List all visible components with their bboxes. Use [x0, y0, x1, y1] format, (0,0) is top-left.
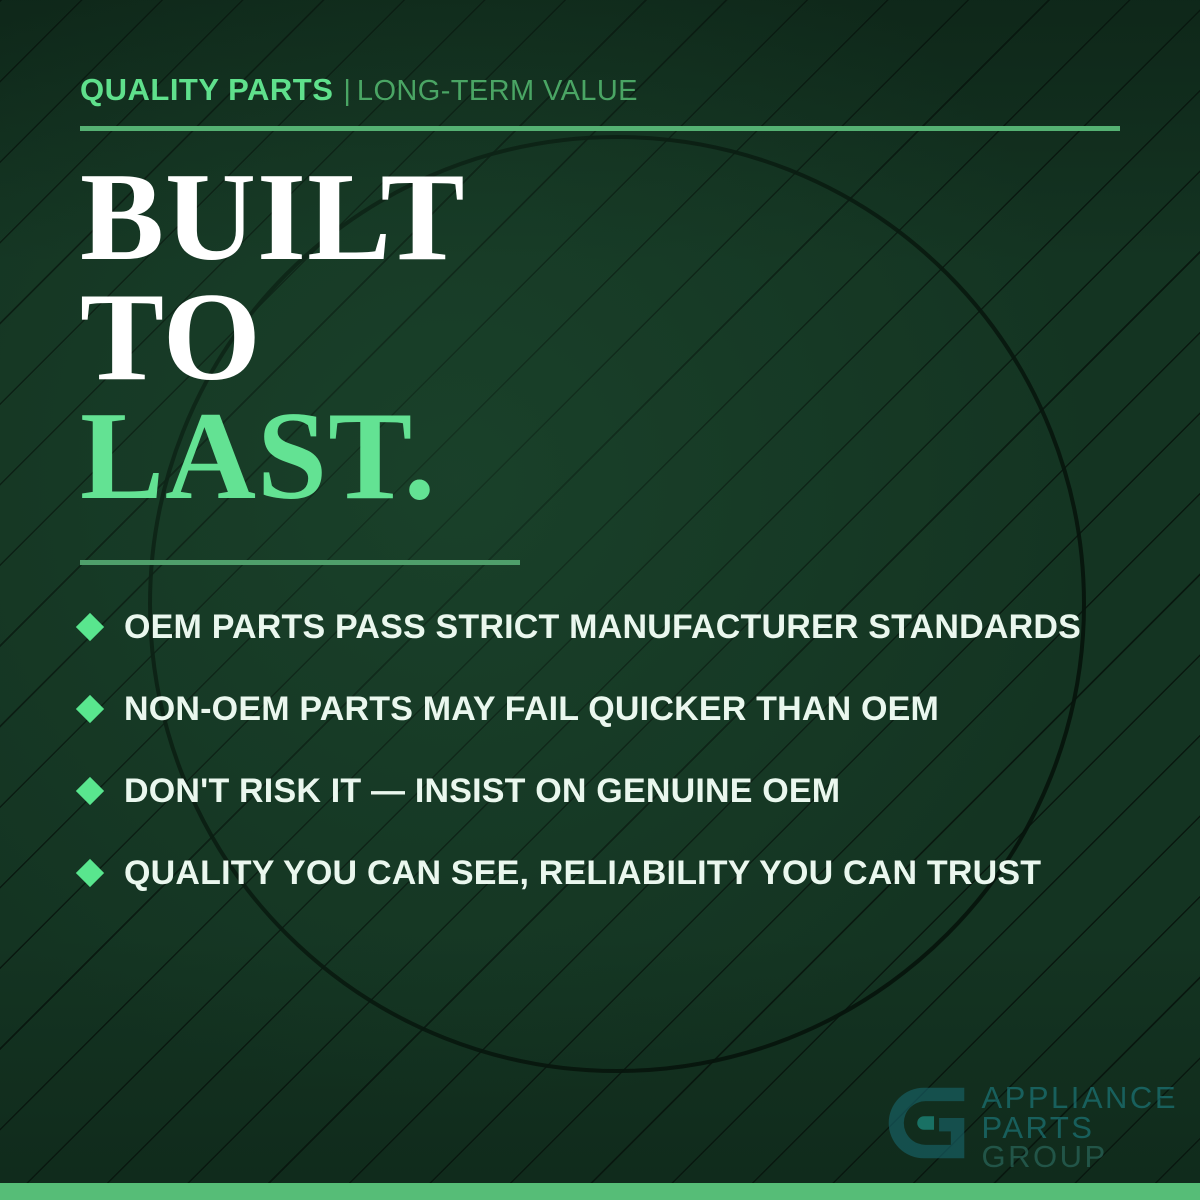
brand-word-line-2: PARTS	[981, 1113, 1178, 1143]
brand-wordmark: APPLIANCE PARTS GROUP	[981, 1081, 1178, 1172]
header-divider-rule	[80, 126, 1120, 131]
diamond-bullet-icon	[76, 613, 104, 641]
list-item-label: OEM PARTS PASS STRICT MANUFACTURER STAND…	[124, 610, 1081, 644]
promo-poster: QUALITY PARTS|LONG-TERM VALUE BUILT TO L…	[0, 0, 1200, 1200]
list-item-label: QUALITY YOU CAN SEE, RELIABILITY YOU CAN…	[124, 856, 1041, 890]
benefits-list: OEM PARTS PASS STRICT MANUFACTURER STAND…	[80, 586, 1150, 914]
headline-line-2: TO	[80, 278, 466, 398]
headline-line-3: LAST.	[80, 397, 466, 517]
headline-line-1: BUILT	[80, 158, 466, 278]
eyebrow: QUALITY PARTS|LONG-TERM VALUE	[80, 74, 638, 106]
list-item: QUALITY YOU CAN SEE, RELIABILITY YOU CAN…	[80, 832, 1150, 914]
list-item: DON'T RISK IT — INSIST ON GENUINE OEM	[80, 750, 1150, 832]
list-item-label: DON'T RISK IT — INSIST ON GENUINE OEM	[124, 774, 840, 808]
brand-word-line-1: APPLIANCE	[981, 1083, 1178, 1113]
eyebrow-main-label: QUALITY PARTS	[80, 72, 333, 107]
eyebrow-separator: |	[343, 75, 351, 107]
diamond-bullet-icon	[76, 777, 104, 805]
brand-word-line-3: GROUP	[981, 1142, 1178, 1172]
list-item: NON-OEM PARTS MAY FAIL QUICKER THAN OEM	[80, 668, 1150, 750]
list-item-label: NON-OEM PARTS MAY FAIL QUICKER THAN OEM	[124, 692, 939, 726]
bottom-accent-bar	[0, 1183, 1200, 1200]
diamond-bullet-icon	[76, 859, 104, 887]
page-title: BUILT TO LAST.	[80, 158, 466, 517]
list-item: OEM PARTS PASS STRICT MANUFACTURER STAND…	[80, 586, 1150, 668]
g-monogram-icon	[887, 1081, 971, 1165]
headline-divider-rule	[80, 560, 520, 565]
diamond-bullet-icon	[76, 695, 104, 723]
brand-logo: APPLIANCE PARTS GROUP	[887, 1081, 1178, 1172]
eyebrow-sub-label: LONG-TERM VALUE	[357, 75, 638, 107]
poster-content: QUALITY PARTS|LONG-TERM VALUE BUILT TO L…	[0, 0, 1200, 1200]
